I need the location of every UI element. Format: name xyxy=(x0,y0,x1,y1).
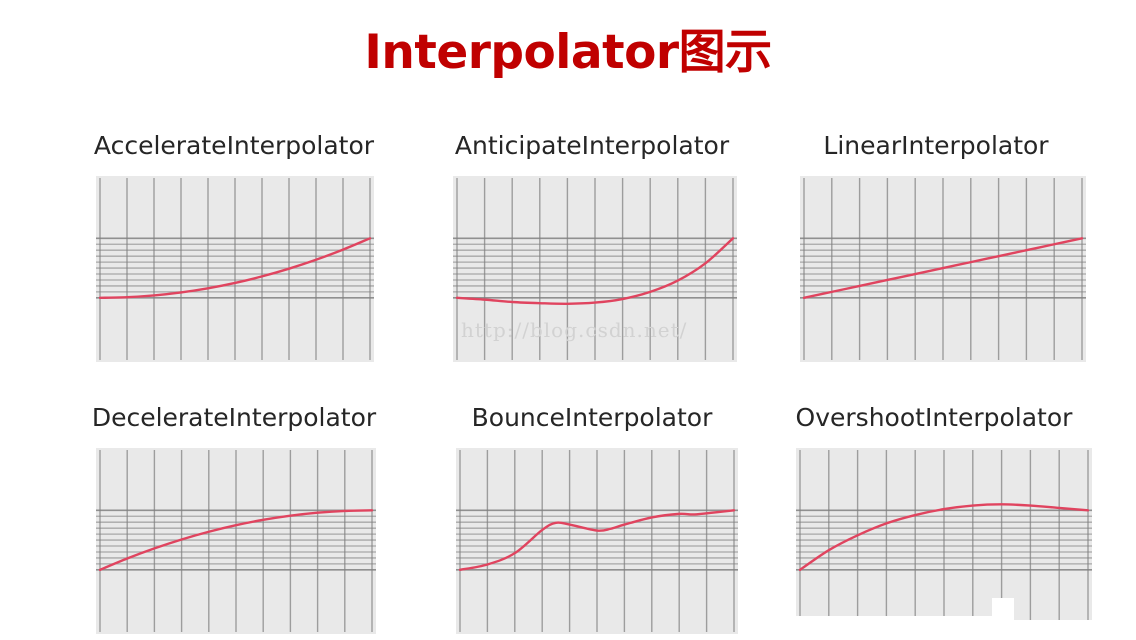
chart-svg-linear xyxy=(800,176,1086,362)
chart-svg-anticipate xyxy=(453,176,737,362)
slide-canvas: Interpolator图示 AccelerateInterpolator An… xyxy=(0,0,1136,640)
chart-title-overshoot: OvershootInterpolator xyxy=(750,404,1118,432)
chart-svg-overshoot xyxy=(796,448,1092,634)
chart-title-bounce: BounceInterpolator xyxy=(398,404,786,432)
chart-plot-decelerate xyxy=(96,448,376,634)
image-artifact-cutout xyxy=(1010,620,1092,634)
chart-plot-overshoot xyxy=(796,448,1092,634)
chart-svg-bounce xyxy=(456,448,738,634)
chart-plot-bounce xyxy=(456,448,738,634)
chart-title-decelerate: DecelerateInterpolator xyxy=(30,404,438,432)
chart-plot-accelerate xyxy=(96,176,374,362)
chart-svg-accelerate xyxy=(96,176,374,362)
chart-svg-decelerate xyxy=(96,448,376,634)
chart-title-accelerate: AccelerateInterpolator xyxy=(30,132,438,160)
chart-plot-anticipate: http://blog.csdn.net/ xyxy=(453,176,737,362)
page-title: Interpolator图示 xyxy=(0,28,1136,77)
chart-title-anticipate: AnticipateInterpolator xyxy=(398,132,786,160)
chart-title-linear: LinearInterpolator xyxy=(756,132,1116,160)
chart-plot-linear xyxy=(800,176,1086,362)
chart-grid: AccelerateInterpolator AnticipateInterpo… xyxy=(0,118,1136,640)
image-artifact-cutout xyxy=(796,616,994,634)
